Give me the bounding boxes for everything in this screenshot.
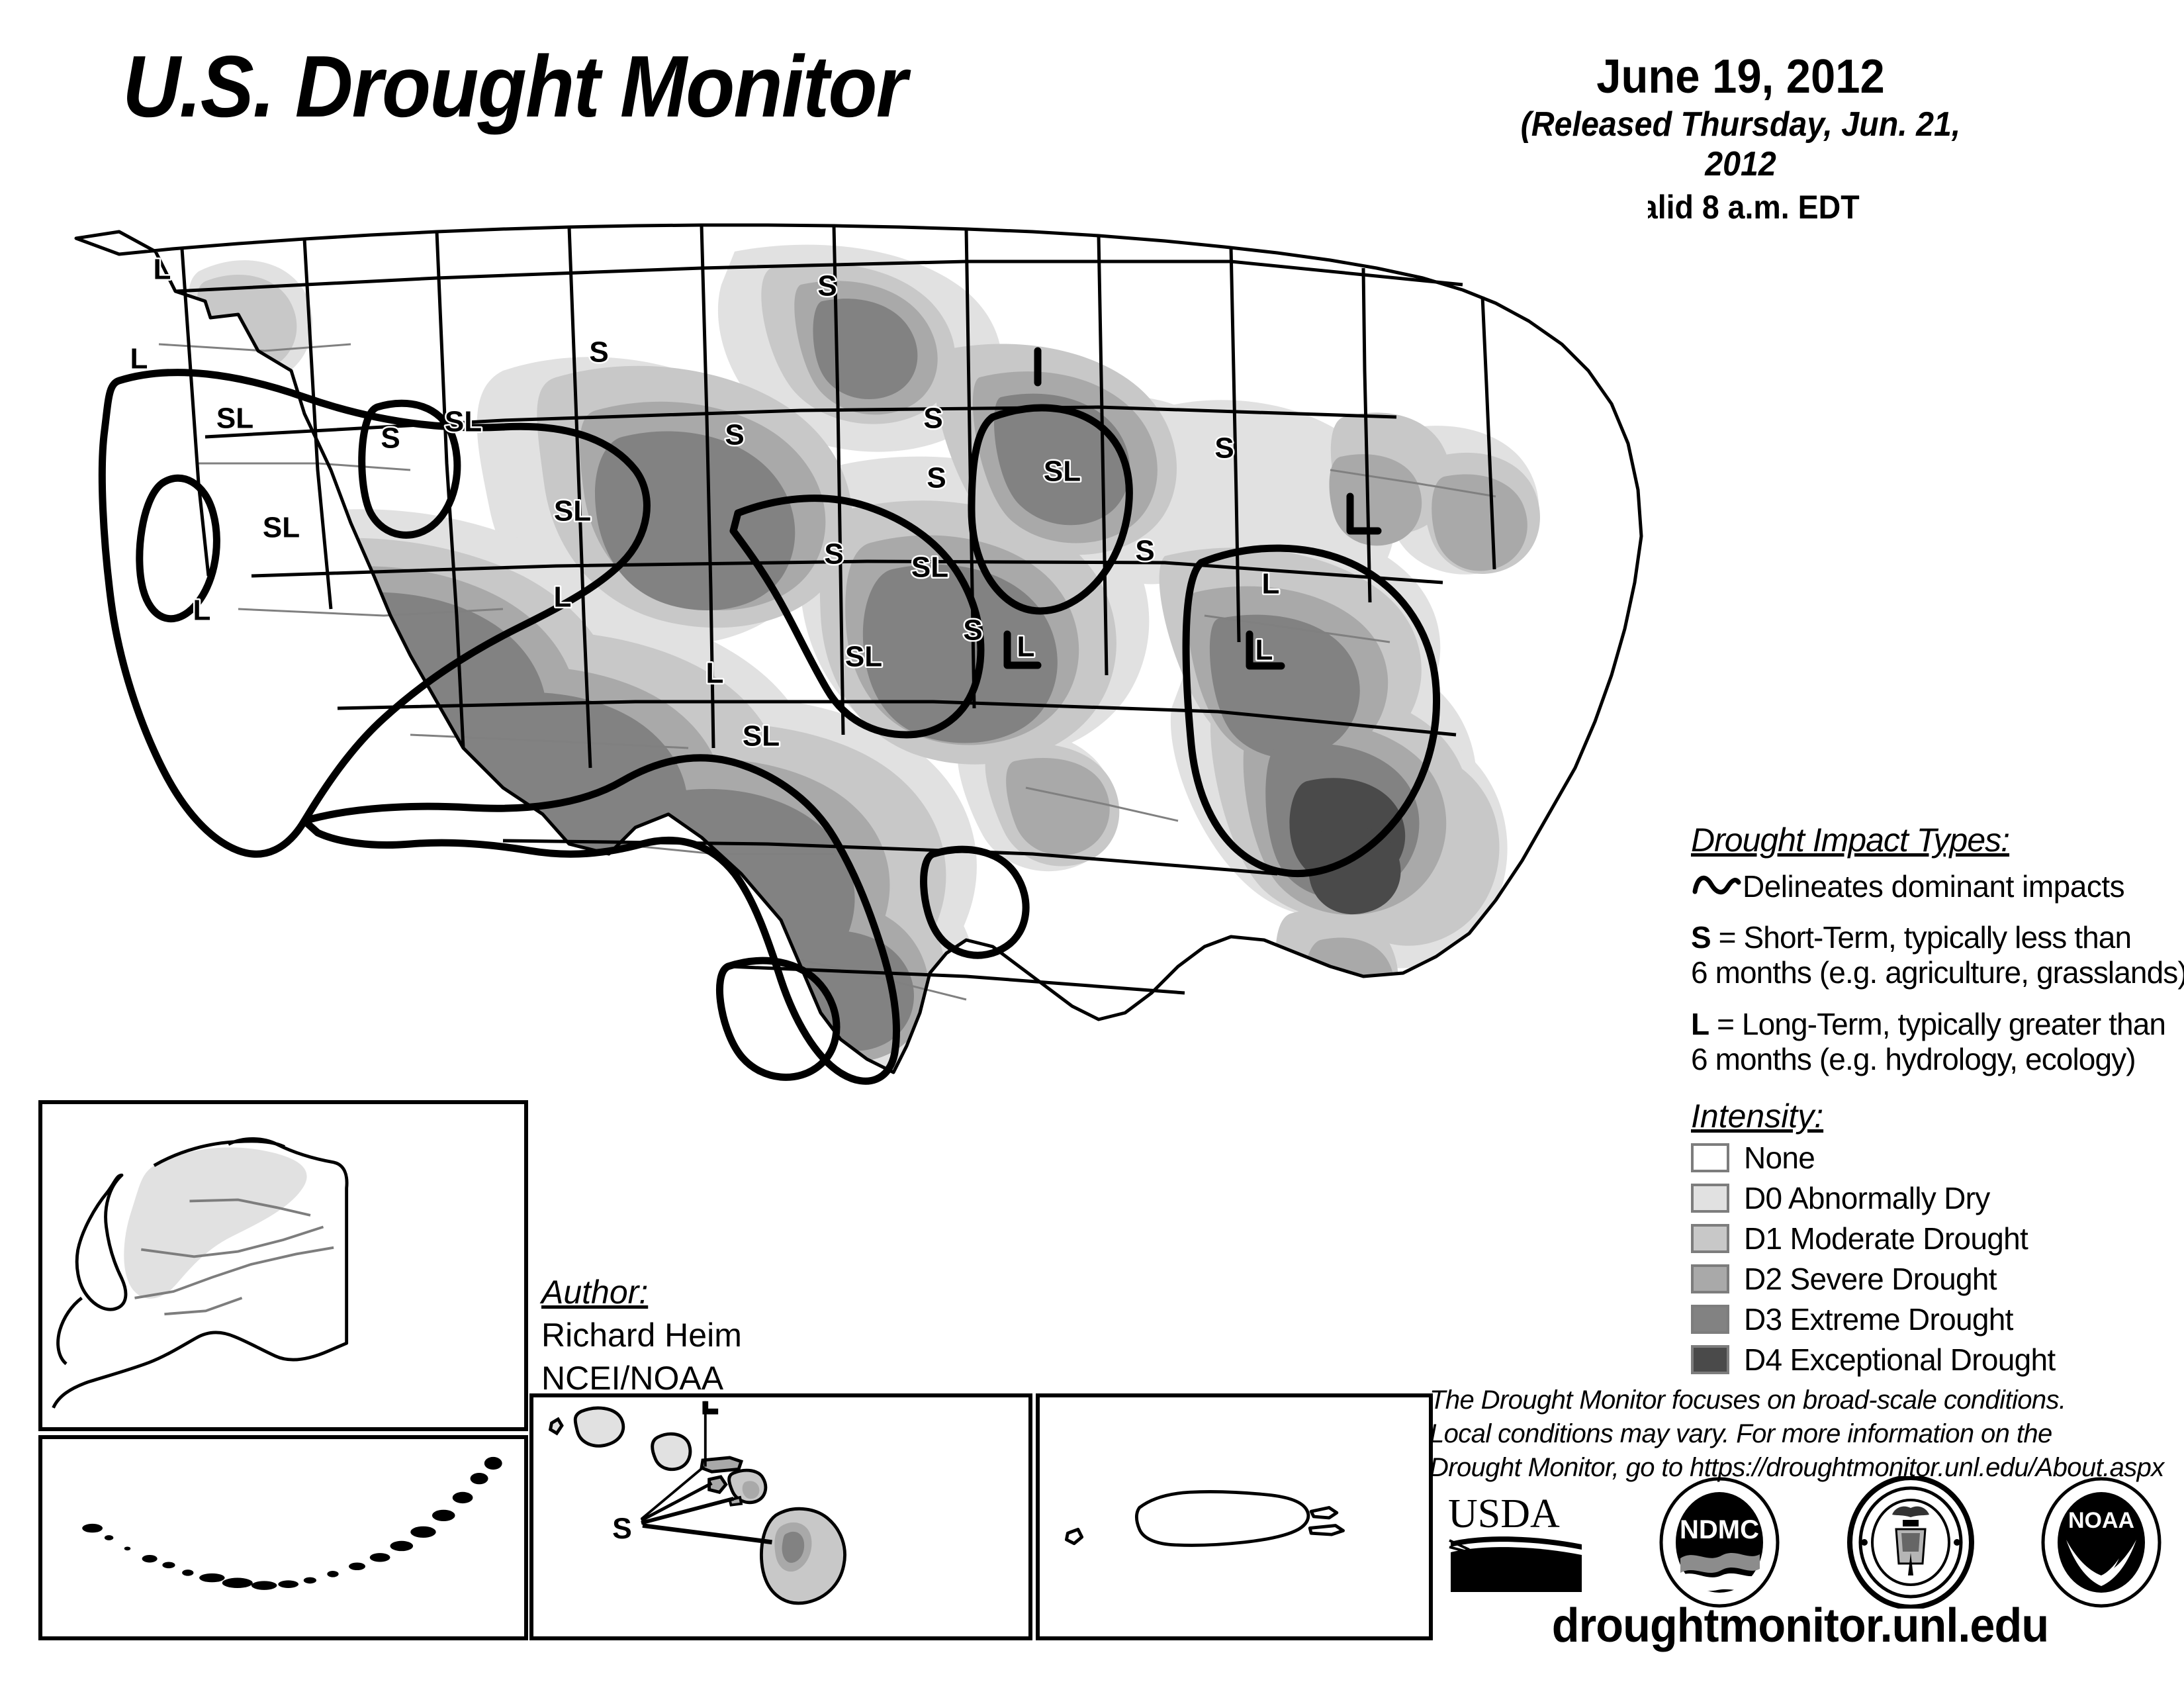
map-impact-label-arizona-west: L — [193, 594, 211, 627]
long-term-line2: 6 months (e.g. hydrology, ecology) — [1691, 1042, 2136, 1076]
map-impact-label-central-texas: L — [706, 657, 724, 690]
map-impact-label-nevada-south: SL — [263, 512, 300, 544]
aleutian-islands — [82, 1457, 502, 1590]
intensity-swatch-row: D1 Moderate Drought — [1691, 1221, 2174, 1256]
intensity-swatch-d4 — [1691, 1345, 1729, 1374]
legend-block: Drought Impact Types: Delineates dominan… — [1691, 821, 2174, 1378]
page-title: U.S. Drought Monitor — [122, 36, 906, 136]
hawaii-inset-panel[interactable]: S — [529, 1393, 1032, 1640]
map-impact-label-louisiana: S — [963, 614, 982, 647]
aleutians-inset-panel[interactable] — [38, 1435, 528, 1640]
map-impact-label-illinois: S — [927, 462, 946, 494]
map-impact-label-north-idaho: L — [154, 254, 171, 286]
disclaimer-line-1: The Drought Monitor focuses on broad-sca… — [1430, 1383, 2171, 1417]
puerto-rico-outline — [1066, 1491, 1343, 1545]
author-block: Author: Richard Heim NCEI/NOAA — [541, 1271, 742, 1400]
logo-row: USDA NDMC NOAA — [1443, 1476, 2164, 1609]
intensity-swatch-row: D2 Severe Drought — [1691, 1261, 2174, 1297]
intensity-swatch-d3 — [1691, 1305, 1729, 1334]
map-impact-label-florida-north: L — [1255, 634, 1273, 667]
disclaimer-line-2: Local conditions may vary. For more info… — [1430, 1417, 2171, 1451]
svg-text:NDMC: NDMC — [1680, 1515, 1759, 1544]
short-term-definition: S = Short-Term, typically less than 6 mo… — [1691, 920, 2174, 991]
map-date: June 19, 2012 — [1516, 53, 1966, 101]
map-impact-label-louisiana-south: L — [1017, 631, 1035, 663]
short-term-key: S — [1691, 920, 1711, 955]
intensity-label: None — [1744, 1140, 1815, 1176]
intensity-heading: Intensity: — [1691, 1097, 2174, 1135]
intensity-swatch-row: None — [1691, 1140, 2174, 1176]
delineates-label: Delineates dominant impacts — [1743, 868, 2124, 904]
intensity-swatch-row: D3 Extreme Drought — [1691, 1301, 2174, 1337]
map-impact-label-kansas-colorado: SL — [554, 495, 591, 528]
intensity-label: D4 Exceptional Drought — [1744, 1342, 2055, 1378]
long-term-rest: = Long-Term, typically greater than — [1709, 1007, 2165, 1041]
map-impact-label-colorado-west: SL — [445, 406, 482, 438]
intensity-label: D0 Abnormally Dry — [1744, 1180, 1990, 1216]
map-impact-label-utah-west: S — [381, 422, 400, 455]
map-impact-label-south-texas-north: SL — [845, 641, 882, 673]
author-affiliation: NCEI/NOAA — [541, 1357, 742, 1400]
svg-text:USDA: USDA — [1448, 1491, 1560, 1536]
ndmc-logo: NDMC — [1657, 1476, 1782, 1609]
map-impact-label-missouri: S — [824, 538, 843, 571]
intensity-label: D1 Moderate Drought — [1744, 1221, 2028, 1256]
hawaii-short-term-label: S — [612, 1513, 632, 1545]
map-impact-label-south-texas: SL — [743, 720, 780, 753]
intensity-swatch-d0 — [1691, 1184, 1729, 1213]
alaska-inset-panel[interactable] — [38, 1100, 528, 1431]
map-impact-label-georgia: L — [1262, 568, 1280, 600]
intensity-swatch-list: NoneD0 Abnormally DryD1 Moderate Drought… — [1691, 1140, 2174, 1378]
map-impact-label-montana-east: S — [589, 336, 608, 369]
map-impact-label-oregon-idaho: L — [130, 343, 148, 375]
short-term-rest: = Short-Term, typically less than — [1711, 920, 2131, 955]
map-impact-label-nebraska: S — [725, 419, 744, 451]
map-impact-label-ohio: S — [1214, 432, 1234, 465]
map-impact-label-arkansas: SL — [911, 551, 948, 584]
hawaii-longterm-tick — [705, 1401, 718, 1411]
usda-logo: USDA — [1443, 1486, 1595, 1599]
doc-seal — [1844, 1476, 1977, 1609]
long-term-key: L — [1691, 1007, 1709, 1041]
intensity-label: D3 Extreme Drought — [1744, 1301, 2013, 1337]
short-term-line2: 6 months (e.g. agriculture, grasslands) — [1691, 955, 2184, 990]
website-url: droughtmonitor.unl.edu — [1448, 1599, 2152, 1653]
intensity-swatch-d1 — [1691, 1224, 1729, 1253]
squiggle-icon — [1691, 869, 1743, 904]
author-name: Richard Heim — [541, 1314, 742, 1357]
author-heading: Author: — [541, 1271, 742, 1314]
noaa-logo: NOAA — [2038, 1476, 2164, 1609]
map-impact-label-north-dakota: S — [817, 270, 837, 303]
intensity-swatch-d2 — [1691, 1264, 1729, 1293]
intensity-swatch-row: D4 Exceptional Drought — [1691, 1342, 2174, 1378]
svg-text:NOAA: NOAA — [2068, 1508, 2134, 1533]
map-impact-label-iowa: S — [923, 402, 942, 435]
map-impact-label-great-basin: SL — [216, 402, 253, 435]
delineates-row: Delineates dominant impacts — [1691, 868, 2174, 904]
intensity-label: D2 Severe Drought — [1744, 1261, 1997, 1297]
disclaimer-text: The Drought Monitor focuses on broad-sca… — [1430, 1383, 2171, 1484]
puerto-rico-inset-panel[interactable] — [1036, 1393, 1433, 1640]
intensity-swatch-row: D0 Abnormally Dry — [1691, 1180, 2174, 1216]
long-term-definition: L = Long-Term, typically greater than 6 … — [1691, 1007, 2174, 1078]
map-impact-label-tennessee: S — [1135, 535, 1154, 567]
map-impact-label-indiana-kentucky: SL — [1044, 455, 1081, 488]
impact-types-heading: Drought Impact Types: — [1691, 821, 2174, 859]
intensity-swatch-none — [1691, 1143, 1729, 1172]
map-impact-label-new-mexico-texas: L — [554, 581, 572, 614]
